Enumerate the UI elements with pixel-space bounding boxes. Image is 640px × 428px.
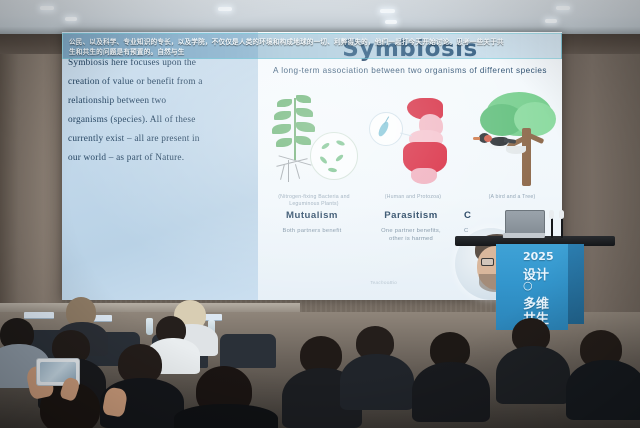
audience-desk-row (0, 303, 300, 312)
plant-root (288, 160, 289, 182)
term-heading: Parasitism (361, 210, 461, 221)
caption-line: (Human and Protozoa) (363, 194, 463, 201)
plant-leaf (296, 95, 311, 103)
audience-shoulders (496, 346, 570, 404)
ceiling-light (380, 9, 395, 13)
ceiling-light (40, 6, 54, 10)
subtitle-overlay-band: 公民、以及科学、专业知识的专长，以及学院，不仅仅是人类的环境和构成地球的一切、利… (62, 33, 562, 59)
auditorium-chair (220, 334, 276, 368)
plant-leaf (296, 108, 313, 117)
ceiling-light (385, 20, 397, 24)
speaker-glasses-left (481, 258, 494, 266)
illustration-plant-bacteria: (Nitrogen-fixing Bacteria and Leguminous… (264, 90, 364, 202)
term-desc-line: other is harmed (389, 236, 433, 242)
slide-text-line: our world – as part of Nature. (68, 149, 250, 168)
term-description: One partner benefits, other is harmed (361, 227, 461, 243)
ceiling-light (65, 17, 77, 21)
illustration-caption: (Nitrogen-fixing Bacteria and Leguminous… (264, 194, 364, 208)
caption-line: (A bird and a Tree) (462, 194, 562, 201)
plant-leaf (295, 136, 311, 145)
microphone-stem (561, 216, 563, 238)
audience-shoulders (412, 362, 490, 422)
microphone-stem (551, 216, 553, 238)
plant-leaf (296, 122, 315, 132)
podium-side-panel (568, 244, 584, 324)
ceiling-light (218, 7, 232, 11)
nest (506, 146, 526, 154)
laptop-screen (505, 210, 545, 235)
audience-shoulders (566, 360, 640, 420)
left-wall-panel (0, 32, 62, 332)
tree-canopy (514, 102, 556, 136)
bird-breast (484, 135, 492, 142)
plant-leaf (274, 111, 291, 120)
bacteria-magnifier-circle (310, 132, 358, 180)
illustration-caption: (Human and Protozoa) (363, 194, 463, 201)
lecture-hall-photo: Symbiosis here focuses upon the creation… (0, 0, 640, 428)
slide-text-line: organisms (species). All of these (68, 111, 250, 130)
plant-leaf (277, 99, 292, 107)
slide-subtitle: A long-term association between two orga… (272, 65, 548, 76)
illustration-human-protozoa: (Human and Protozoa) (363, 90, 463, 202)
slide-left-text-panel: Symbiosis here focuses upon the creation… (62, 32, 258, 300)
term-heading: Mutualism (262, 210, 362, 221)
lower-intestine (411, 168, 437, 184)
ceiling-light (556, 6, 570, 10)
laptop-base (503, 233, 546, 238)
slide-text-line: relationship between two (68, 92, 250, 111)
caption-line: Leguminous Plants) (264, 201, 364, 208)
plant-stem (294, 98, 296, 160)
subtitle-line-1: 公民、以及科学、专业知识的专长，以及学院，不仅仅是人类的环境和构成地球的一切、利… (69, 38, 557, 47)
slide-text-line: currently exist – all are present in (68, 130, 250, 149)
microphone-head (559, 210, 564, 219)
desk-nameplate (24, 312, 54, 319)
bird-beak (473, 137, 480, 140)
term-description: Both partners benefit (262, 227, 362, 235)
water-bottle (146, 318, 153, 335)
term-desc-line: One partner benefits, (381, 228, 441, 234)
term-parasitism: Parasitism One partner benefits, other i… (361, 210, 461, 243)
plant-leaf (272, 124, 291, 134)
subtitle-line-2: 生和共生的问题是有预置的。自然与生 (69, 48, 557, 57)
ceiling-light (545, 19, 557, 23)
term-mutualism: Mutualism Both partners benefit (262, 210, 362, 235)
podium-bullet: ○ (523, 279, 533, 292)
plant-leaf (276, 138, 292, 147)
ceiling (0, 0, 640, 34)
microphone-head (549, 210, 554, 219)
audience-shoulders-foreground (174, 404, 278, 428)
plant-root (295, 164, 300, 179)
illustration-bird-tree: (A bird and a Tree) (462, 90, 562, 202)
illustration-row: (Nitrogen-fixing Bacteria and Leguminous… (262, 90, 558, 202)
audience-shoulders (340, 354, 414, 410)
slide-text-line: creation of value or benefit from a (68, 73, 250, 92)
illustration-caption: (A bird and a Tree) (462, 194, 562, 201)
caption-line: (Nitrogen-fixing Bacteria and (264, 194, 364, 201)
podium-year: 2025 (523, 250, 554, 263)
plant-root (280, 164, 285, 180)
slide-watermark: TeachooBio (370, 280, 397, 285)
